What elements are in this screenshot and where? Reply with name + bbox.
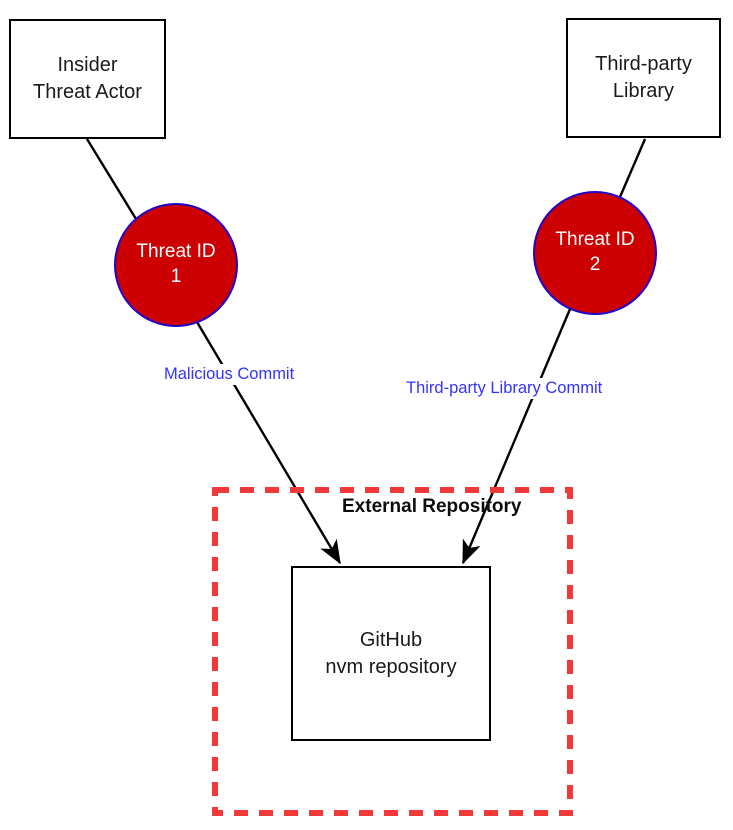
threat-node-2-label: Threat ID 2: [555, 228, 634, 277]
node-github-nvm-repository[interactable]: GitHub nvm repository: [291, 566, 491, 741]
threat-node-1[interactable]: Threat ID 1: [114, 203, 238, 327]
threat-model-diagram: External Repository Insider Threat Actor…: [0, 0, 733, 830]
node-third-party-library-label: Third-party Library: [595, 51, 692, 105]
threat-node-1-label: Threat ID 1: [136, 240, 215, 289]
trust-boundary-label: External Repository: [342, 496, 522, 518]
node-github-nvm-repository-label: GitHub nvm repository: [325, 627, 456, 681]
edge-label-third-party-library-commit: Third-party Library Commit: [403, 378, 605, 399]
edge-label-malicious-commit: Malicious Commit: [161, 364, 297, 385]
node-insider-threat-actor[interactable]: Insider Threat Actor: [9, 19, 166, 139]
edge-insider-to-threat1: [87, 139, 136, 219]
threat-node-2[interactable]: Threat ID 2: [533, 191, 657, 315]
edge-library-to-threat2: [620, 139, 645, 197]
node-third-party-library[interactable]: Third-party Library: [566, 18, 721, 138]
node-insider-threat-actor-label: Insider Threat Actor: [33, 52, 142, 106]
